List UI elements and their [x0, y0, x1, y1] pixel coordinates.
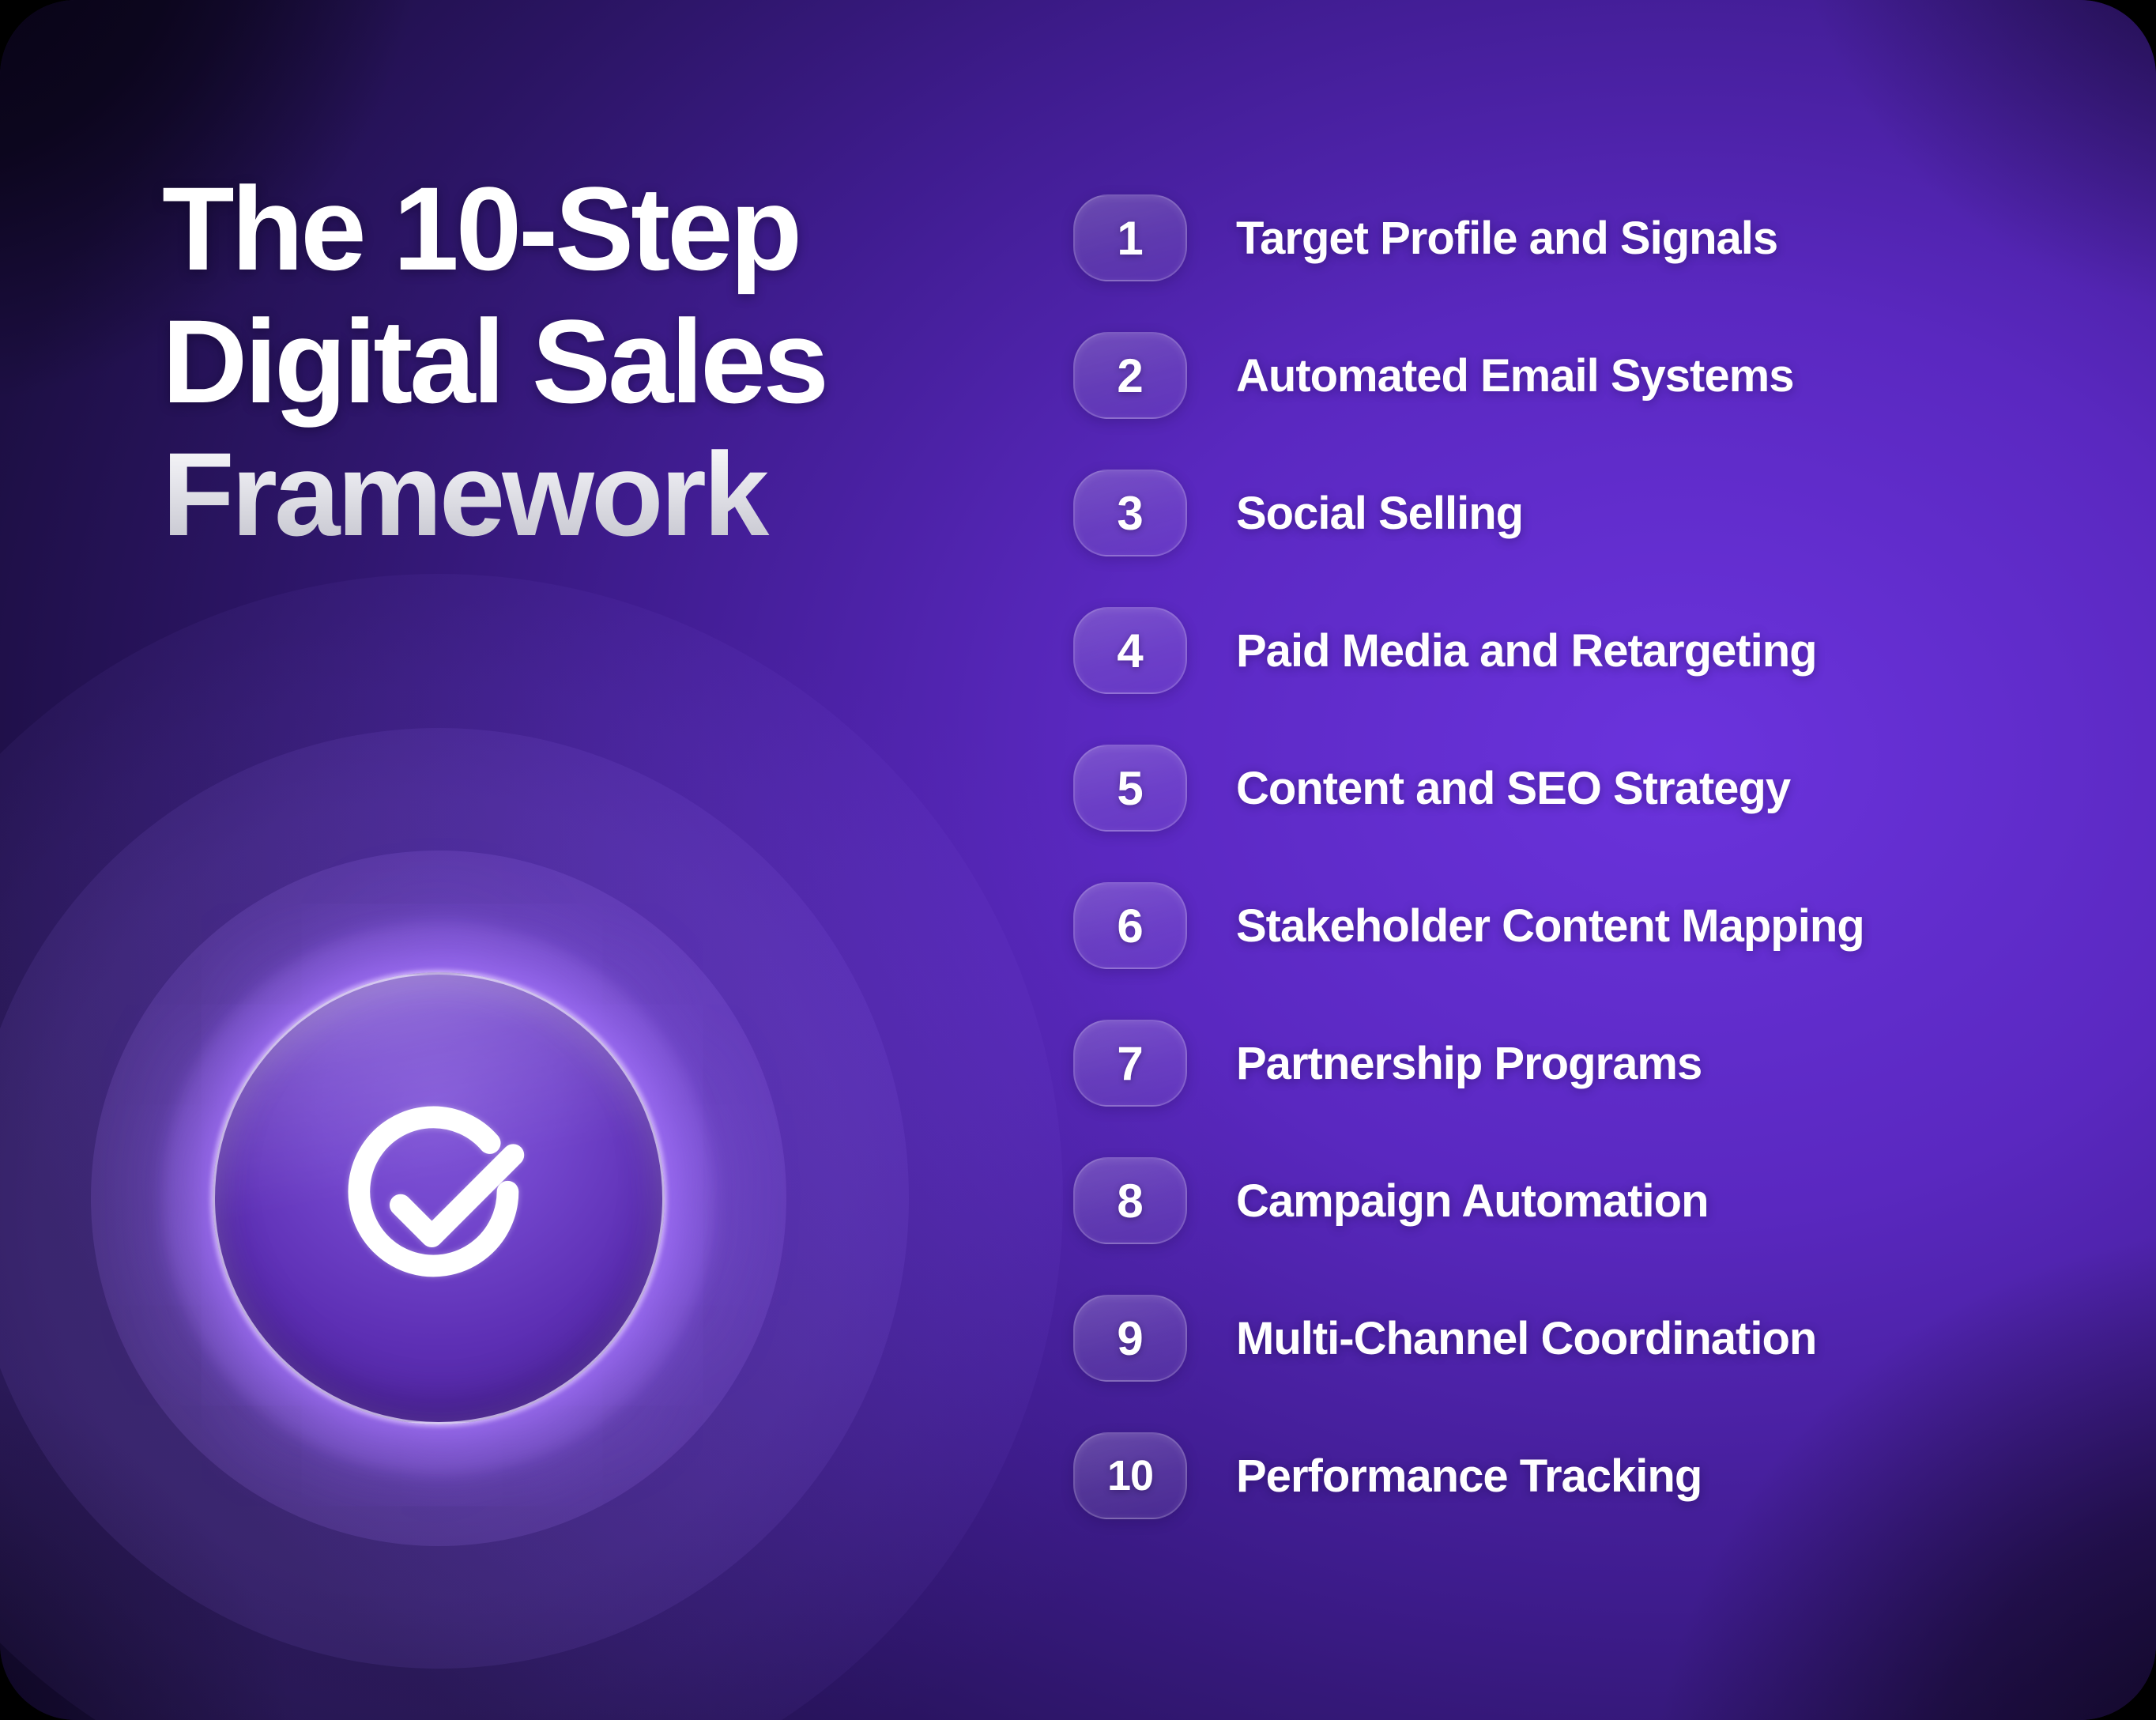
- step-label: Paid Media and Retargeting: [1236, 624, 1817, 677]
- step-number-badge: 3: [1073, 470, 1187, 556]
- step-label: Multi-Channel Coordination: [1236, 1312, 1816, 1365]
- list-item[interactable]: 1 Target Profile and Signals: [1073, 196, 1864, 280]
- step-label: Campaign Automation: [1236, 1175, 1709, 1228]
- step-number-badge: 7: [1073, 1020, 1187, 1107]
- steps-list: 1 Target Profile and Signals 2 Automated…: [1073, 196, 1864, 1518]
- step-label: Automated Email Systems: [1236, 349, 1793, 402]
- page-title: The 10-Step Digital Sales Framework: [162, 162, 1000, 560]
- title-line-2: Digital Sales: [162, 295, 1000, 428]
- list-item[interactable]: 2 Automated Email Systems: [1073, 334, 1864, 417]
- list-item[interactable]: 5 Content and SEO Strategy: [1073, 746, 1864, 830]
- list-item[interactable]: 9 Multi-Channel Coordination: [1073, 1296, 1864, 1380]
- step-number-badge: 5: [1073, 745, 1187, 832]
- title-line-3: Framework: [162, 428, 1000, 560]
- step-label: Performance Tracking: [1236, 1450, 1702, 1503]
- step-label: Target Profile and Signals: [1236, 212, 1777, 265]
- list-item[interactable]: 8 Campaign Automation: [1073, 1159, 1864, 1243]
- step-number-badge: 8: [1073, 1157, 1187, 1244]
- infographic-canvas: The 10-Step Digital Sales Framework 1 Ta…: [0, 0, 2156, 1720]
- list-item[interactable]: 4 Paid Media and Retargeting: [1073, 609, 1864, 692]
- step-number-badge: 6: [1073, 882, 1187, 969]
- hero-check-badge: [213, 972, 665, 1424]
- list-item[interactable]: 10 Performance Tracking: [1073, 1434, 1864, 1518]
- list-item[interactable]: 6 Stakeholder Content Mapping: [1073, 884, 1864, 967]
- circle-check-icon: [308, 1068, 569, 1329]
- list-item[interactable]: 3 Social Selling: [1073, 471, 1864, 555]
- step-number-badge: 10: [1073, 1432, 1187, 1519]
- list-item[interactable]: 7 Partnership Programs: [1073, 1021, 1864, 1105]
- step-label: Partnership Programs: [1236, 1037, 1702, 1090]
- step-number-badge: 1: [1073, 194, 1187, 281]
- step-number-badge: 9: [1073, 1295, 1187, 1382]
- title-line-1: The 10-Step: [162, 162, 1000, 295]
- step-label: Stakeholder Content Mapping: [1236, 900, 1864, 952]
- step-number-badge: 2: [1073, 332, 1187, 419]
- step-label: Social Selling: [1236, 487, 1523, 540]
- step-label: Content and SEO Strategy: [1236, 762, 1790, 815]
- step-number-badge: 4: [1073, 607, 1187, 694]
